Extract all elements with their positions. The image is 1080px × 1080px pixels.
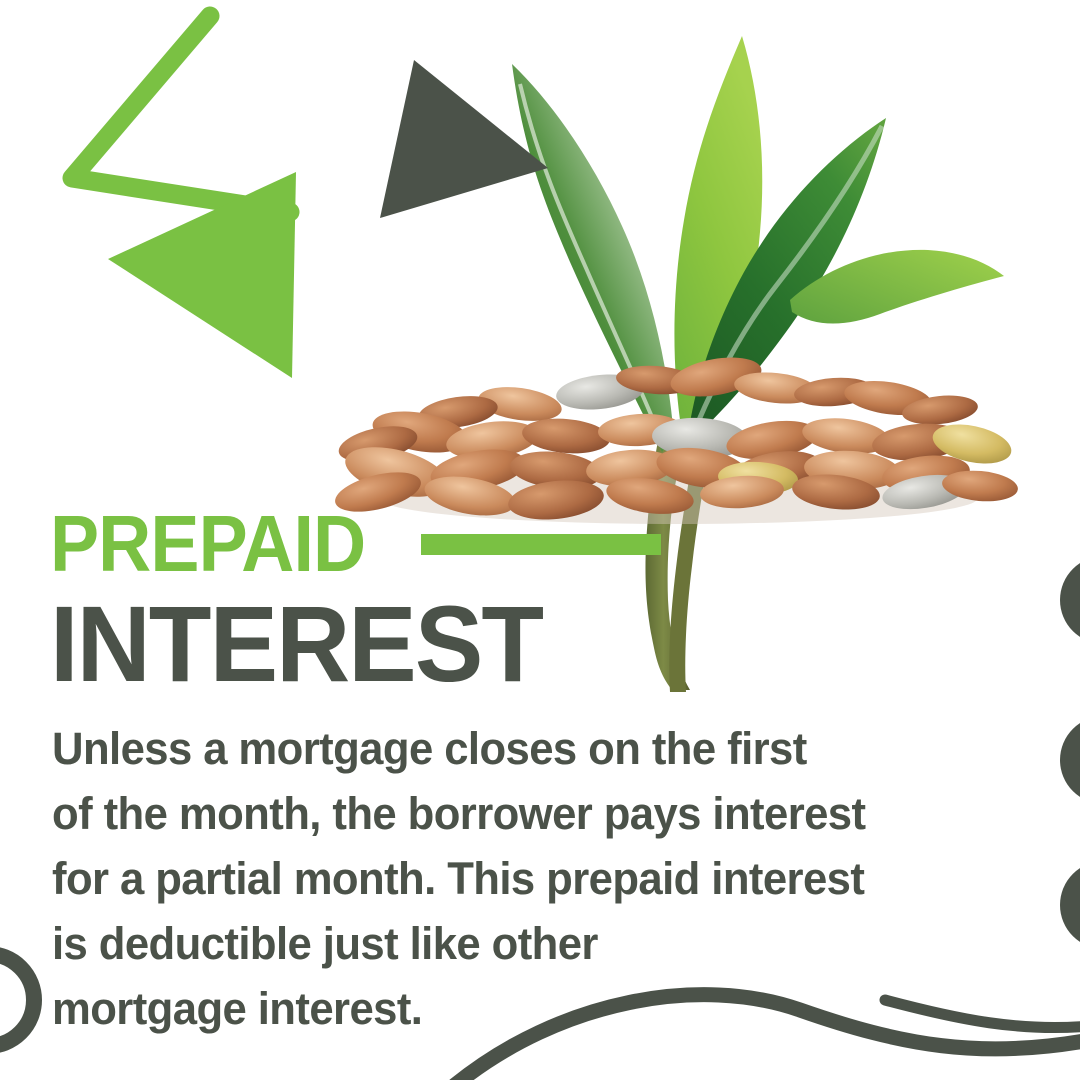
headline-block: PREPAID INTEREST [50, 498, 750, 696]
page-title: INTEREST [50, 592, 715, 696]
right-edge-circle-2 [1060, 716, 1080, 804]
eyebrow-row: PREPAID [50, 498, 750, 590]
green-accent-rule [421, 534, 661, 555]
body-paragraph: Unless a mortgage closes on the first of… [52, 716, 983, 1041]
filled-triangle-dark [380, 60, 548, 218]
filled-triangle-green [108, 172, 296, 378]
right-edge-circle-3 [1060, 861, 1080, 949]
outline-triangle-green [72, 16, 290, 212]
title-eyebrow: PREPAID [50, 504, 365, 584]
poster-canvas: PREPAID INTEREST Unless a mortgage close… [0, 0, 1080, 1080]
right-edge-circle-1 [1060, 556, 1080, 644]
plant-leaves [512, 36, 1004, 452]
bottom-left-ring [0, 954, 34, 1046]
